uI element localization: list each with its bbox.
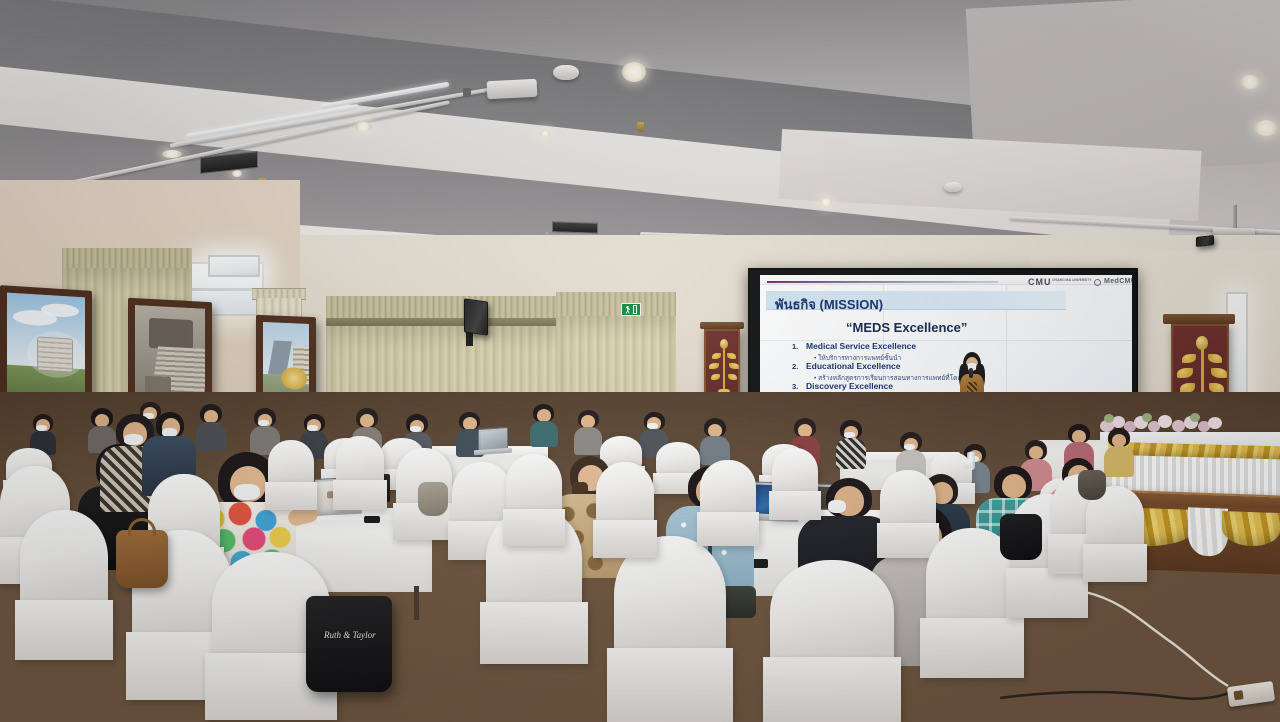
ceiling-ac-unit (487, 79, 538, 100)
attendee-back-11 (574, 410, 602, 454)
downlight-8 (1254, 120, 1278, 136)
black-handbag-right (1000, 514, 1042, 560)
slide-accent-line (767, 281, 998, 283)
attendee-colorful-mask (234, 484, 260, 500)
downlight-6 (820, 198, 832, 206)
attendee-back-20 (1104, 428, 1134, 476)
chair-mid-13 (268, 440, 314, 510)
attendee-back-13 (700, 418, 730, 464)
downlight-2 (232, 170, 242, 177)
exit-running-man-icon (626, 306, 631, 314)
conference-room-photo: CMU CHIANG MAI UNIVERSITY MedCMU พันธกิจ… (0, 0, 1280, 722)
projector-mount-pole-2 (1233, 205, 1237, 229)
downlight-4 (540, 130, 550, 137)
chair-mid-11 (1086, 486, 1144, 582)
tote-bag-right (1078, 470, 1106, 500)
attendee-back-10 (530, 404, 558, 446)
coffee-cup-2 (963, 460, 972, 469)
attendee-back-4 (196, 404, 226, 450)
slide-item-1-number: 1. (792, 342, 798, 351)
exit-sign (621, 303, 641, 316)
smoke-detector-2 (944, 182, 962, 192)
smartphone-1 (364, 516, 380, 523)
wall-speaker-right (1196, 235, 1214, 247)
table-mid-left-leg (414, 586, 419, 620)
chair-mid-7 (700, 460, 756, 546)
attendee-back-15 (836, 420, 866, 468)
chair-mid-5 (506, 454, 562, 546)
handheld-microphone (969, 368, 973, 378)
slide-item-3-heading: Discovery Excellence (806, 381, 893, 391)
chair-front-5 (614, 536, 726, 722)
thai-panel-left-header (700, 322, 744, 329)
sprinkler-head-2 (637, 122, 644, 132)
chair-mid-12 (336, 436, 384, 510)
backpack-brand-script: Ruth & Taylor (324, 630, 376, 640)
chair-mid-14 (772, 448, 818, 520)
chair-front-1 (20, 510, 108, 660)
curtain-valance-right (556, 292, 676, 318)
wall-speaker-left (464, 298, 488, 335)
bag-mid (418, 482, 448, 516)
slide-item-3-number: 3. (792, 382, 798, 391)
exit-door-icon (633, 305, 637, 314)
ceiling-air-vent-3 (552, 221, 598, 234)
ceiling-camera (463, 88, 471, 97)
slide-item-1-heading: Medical Service Excellence (806, 341, 916, 351)
downlight-1 (162, 150, 182, 158)
slide-title: พันธกิจ (MISSION) (775, 294, 883, 315)
downlight-7 (1240, 75, 1260, 89)
slide-subtitle: “MEDS Excellence” (846, 320, 967, 335)
window-left-2 (208, 255, 260, 277)
cmu-logo-subtitle: CHIANG MAI UNIVERSITY (1052, 278, 1092, 282)
chair-front-6 (770, 560, 894, 722)
medcmu-mark-icon (1094, 279, 1101, 286)
black-backpack: Ruth & Taylor (306, 596, 392, 692)
slide-item-2-heading: Educational Excellence (806, 361, 900, 371)
slide-item-2-number: 2. (792, 362, 798, 371)
smoke-detector-1 (553, 65, 579, 80)
downlight-5 (622, 62, 646, 82)
handbag-brown (116, 530, 168, 588)
cmu-logo: CMU (1028, 277, 1052, 287)
medcmu-logo: MedCMU (1104, 278, 1132, 285)
power-plug (1233, 690, 1243, 700)
downlight-3 (355, 122, 372, 131)
chair-mid-6 (596, 462, 654, 558)
thai-panel-right-header (1163, 314, 1235, 324)
